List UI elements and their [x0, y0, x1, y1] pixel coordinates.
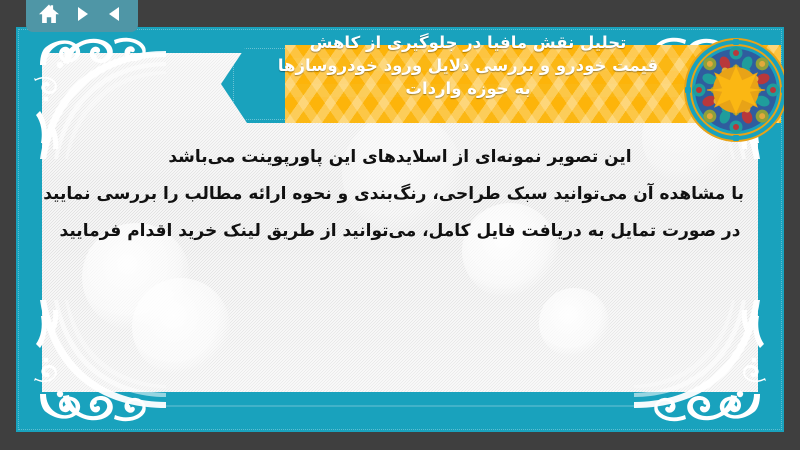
body-line-2: با مشاهده آن می‌توانید سبک طراحی، رنگ‌بن…	[56, 176, 744, 213]
bokeh-glow	[132, 278, 230, 376]
slide-body-text: این تصویر نمونه‌ای از اسلایدهای این پاور…	[16, 139, 784, 250]
bokeh-glow	[539, 288, 609, 358]
next-slide-button[interactable]	[69, 2, 95, 26]
body-line-3: در صورت تمایل به دریافت فایل کامل، می‌تو…	[56, 213, 744, 250]
home-button[interactable]	[36, 2, 62, 26]
slide-navigation-toolbar	[26, 0, 138, 32]
presentation-viewer: تحلیل نقش مافیا در جلوگیری از کاهش قیمت …	[0, 0, 800, 450]
slide-canvas: تحلیل نقش مافیا در جلوگیری از کاهش قیمت …	[16, 27, 784, 432]
previous-slide-button[interactable]	[102, 2, 128, 26]
body-line-1: این تصویر نمونه‌ای از اسلایدهای این پاور…	[56, 139, 744, 176]
